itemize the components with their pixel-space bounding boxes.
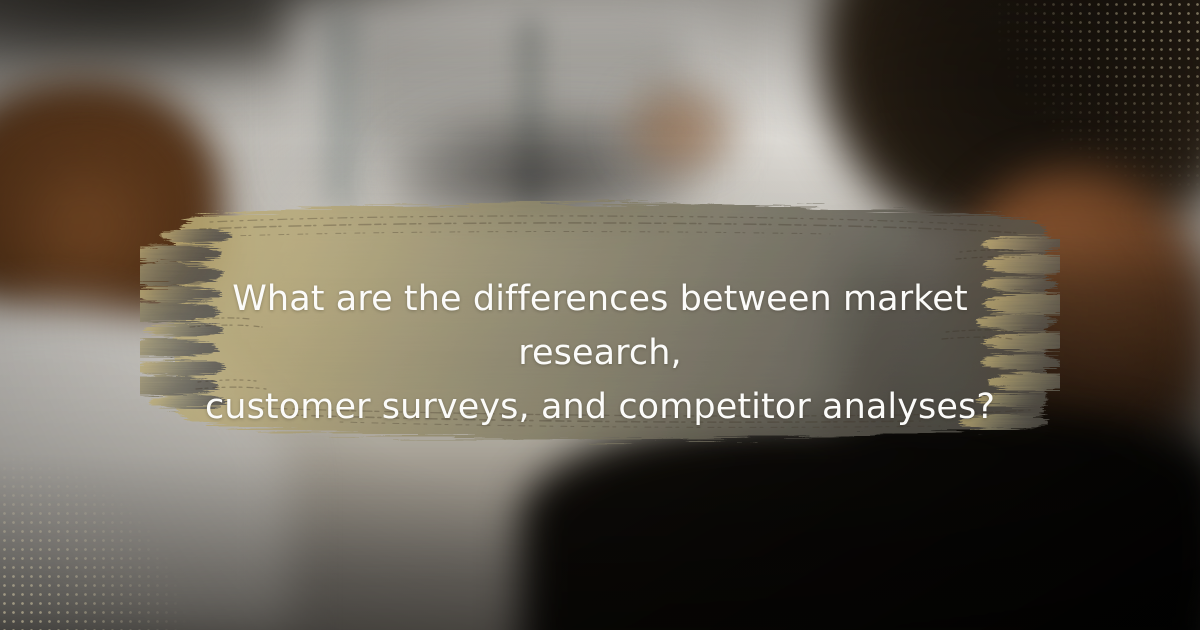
share-card: What are the differences between market … [0,0,1200,630]
headline-text: What are the differences between market … [150,272,1050,434]
